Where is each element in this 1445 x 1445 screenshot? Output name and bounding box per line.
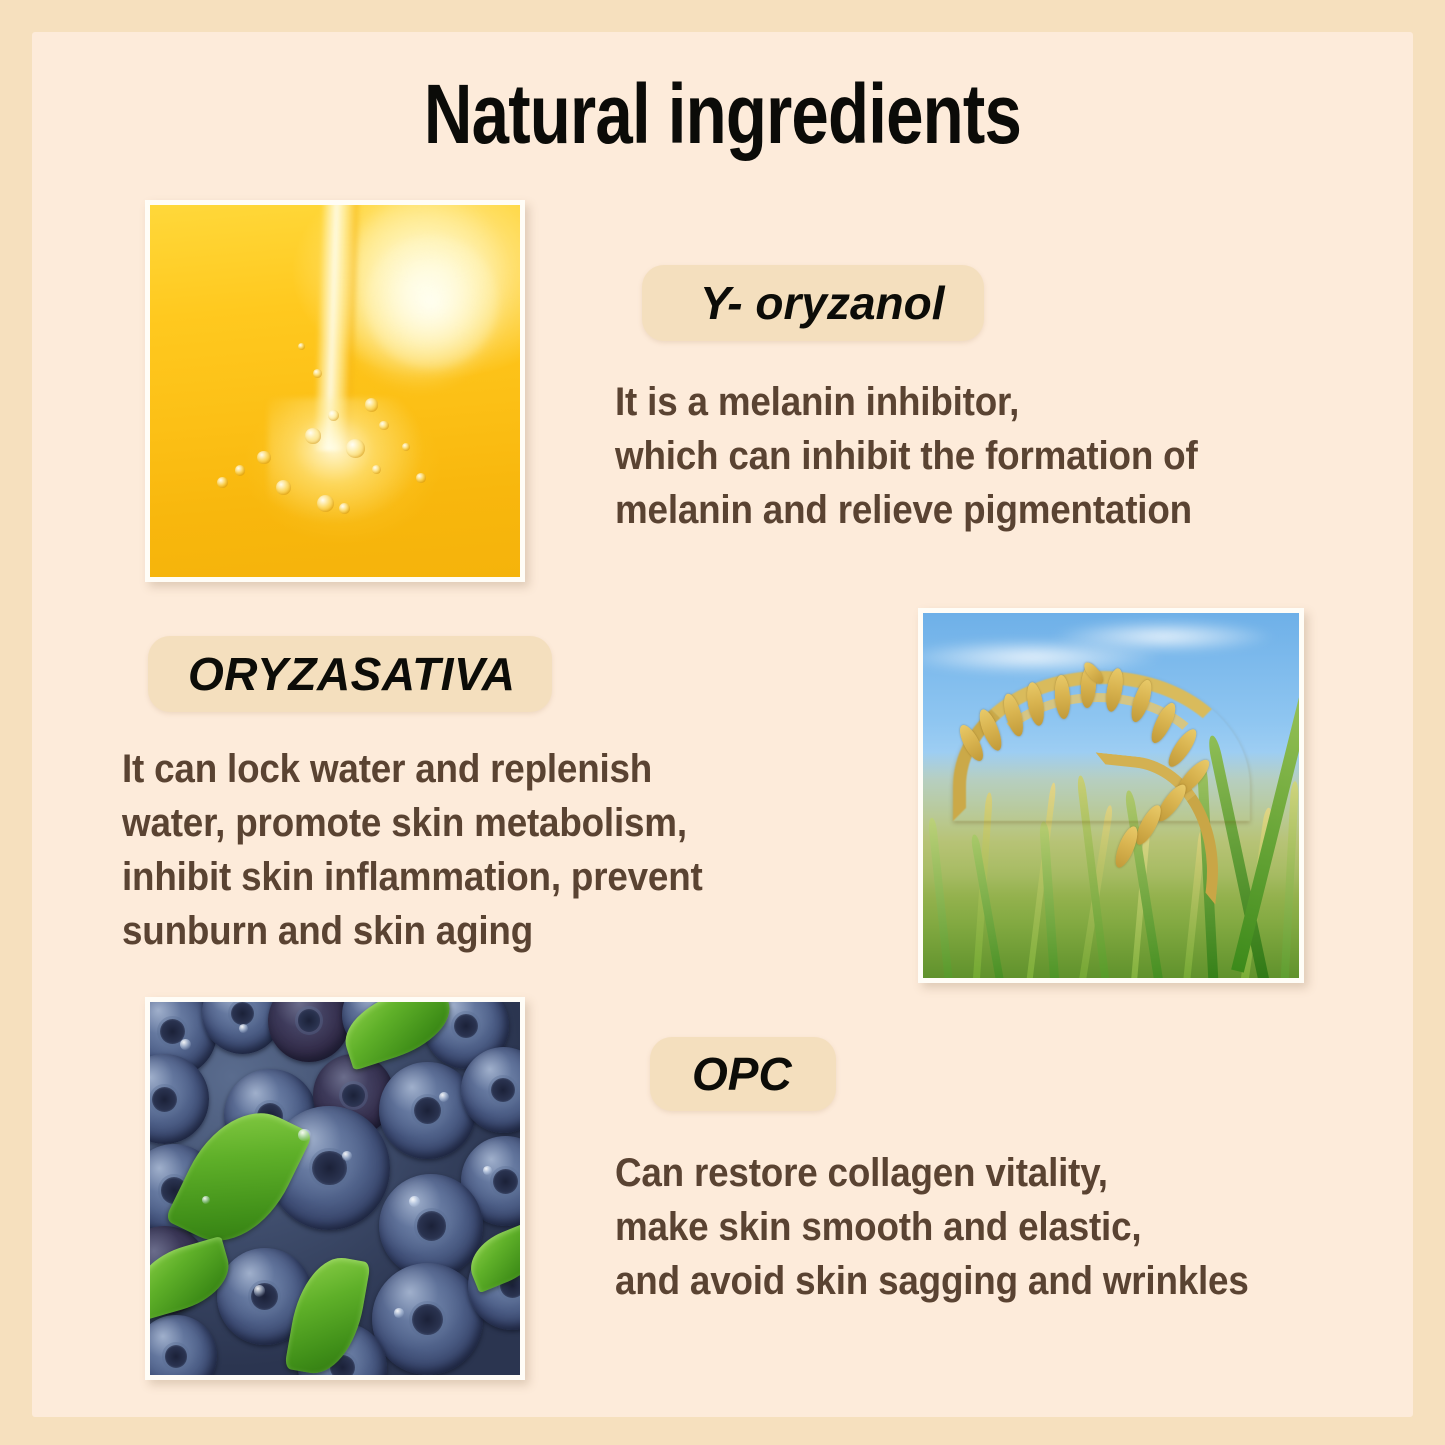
badge-label: Y- oryzanol <box>642 276 945 330</box>
water-droplet <box>239 1024 248 1033</box>
poster-root: Natural ingredients Y- oryzanol It is a … <box>0 0 1445 1445</box>
ingredient-description-opc: Can restore collagen vitality, make skin… <box>615 1146 1406 1308</box>
blueberry <box>379 1062 475 1159</box>
bubble <box>402 443 410 451</box>
blueberry <box>372 1263 483 1375</box>
water-droplet <box>394 1308 404 1318</box>
ingredient-badge-opc: OPC <box>650 1037 836 1111</box>
bubble <box>346 439 365 458</box>
bubble <box>317 495 334 512</box>
ingredient-image-opc <box>145 997 525 1380</box>
bubble <box>313 369 322 378</box>
water-droplet <box>298 1129 311 1142</box>
ingredient-image-oryzanol <box>145 200 525 582</box>
cloud <box>1051 620 1277 653</box>
ingredient-badge-oryzasativa: ORYZASATIVA <box>148 636 552 712</box>
water-droplet <box>483 1166 492 1175</box>
bubble <box>416 473 426 483</box>
water-droplet <box>202 1196 210 1204</box>
bubble <box>217 477 228 488</box>
bubble <box>276 480 291 495</box>
honey-glass-highlight-2 <box>365 235 498 369</box>
ingredient-description-oryzanol: It is a melanin inhibitor, which can inh… <box>615 375 1369 537</box>
water-droplet <box>439 1092 449 1102</box>
bubble <box>305 428 321 444</box>
ingredient-description-oryzasativa: It can lock water and replenish water, p… <box>122 742 876 958</box>
bubble <box>257 451 270 464</box>
badge-label: ORYZASATIVA <box>148 647 516 701</box>
water-droplet <box>342 1151 352 1161</box>
badge-label: OPC <box>650 1047 792 1101</box>
page-title: Natural ingredients <box>145 68 1301 160</box>
bubble <box>339 503 350 514</box>
ingredient-badge-oryzanol: Y- oryzanol <box>642 265 984 341</box>
bubble <box>365 398 378 411</box>
ingredient-image-oryzasativa <box>918 608 1304 983</box>
